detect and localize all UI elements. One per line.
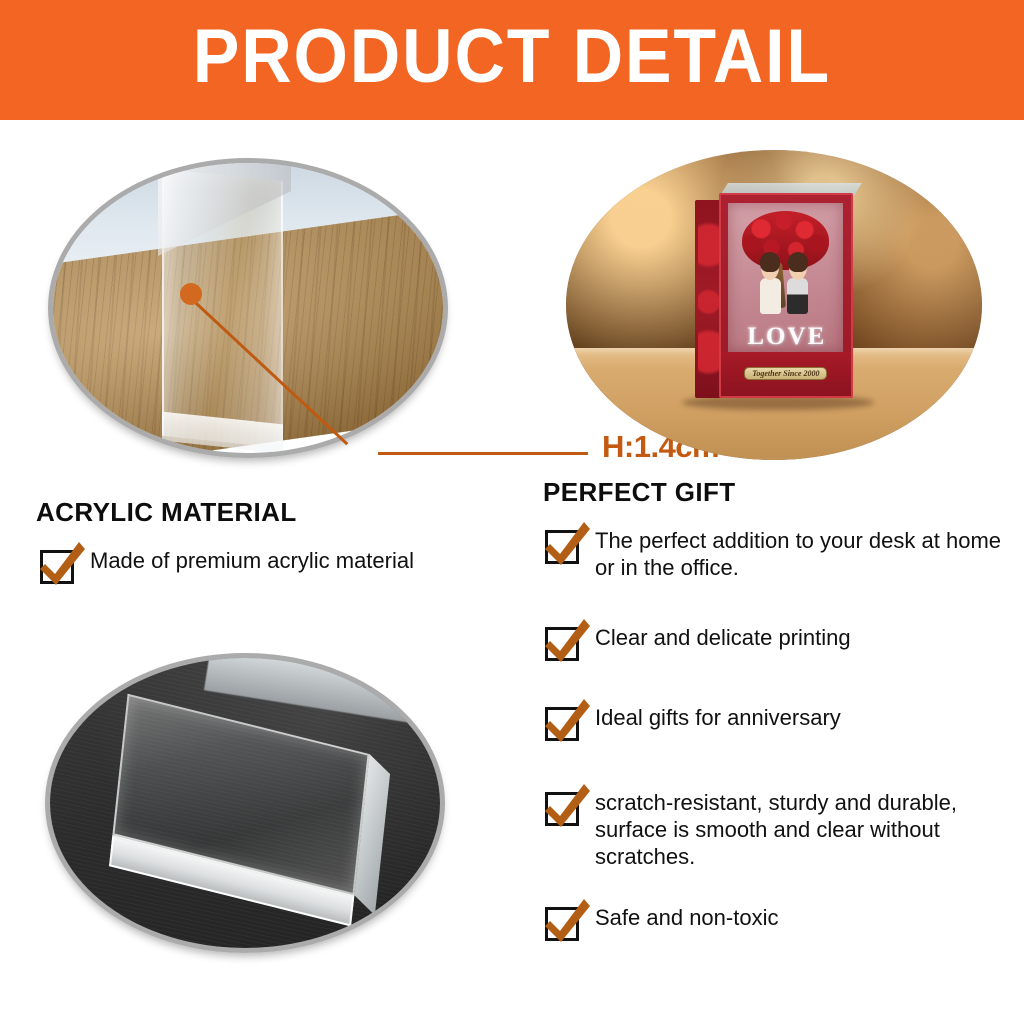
section-heading-perfect-gift: PERFECT GIFT [543, 477, 736, 508]
figurine-man-hair [788, 252, 808, 272]
feature-item: Clear and delicate printing [545, 625, 851, 661]
checkbox-checked-icon [545, 530, 579, 564]
feature-text: Clear and delicate printing [595, 625, 851, 652]
figurine-woman-body [760, 278, 781, 314]
love-letter-v: V [788, 325, 806, 349]
callout-leader-horizontal [378, 452, 588, 455]
feature-item: Safe and non-toxic [545, 905, 778, 941]
checkbox-checked-icon [40, 550, 74, 584]
page-title: PRODUCT DETAIL [193, 19, 831, 101]
figurine-woman [758, 254, 782, 313]
product-plaque: Together Since 2000 [744, 367, 827, 380]
feature-item: The perfect addition to your desk at hom… [545, 528, 1015, 582]
checkbox-checked-icon [545, 792, 579, 826]
wood-table-scene [53, 163, 443, 453]
acrylic-slab-photo [45, 653, 445, 953]
feature-text: Made of premium acrylic material [90, 548, 414, 575]
box-base-band: Together Since 2000 [721, 352, 851, 396]
feature-item: Ideal gifts for anniversary [545, 705, 841, 741]
box-side-face [695, 200, 722, 398]
box-display-window: L O V E [728, 203, 843, 351]
love-letter-l: L [747, 325, 764, 349]
figurine-man [786, 254, 810, 313]
feature-item: scratch-resistant, sturdy and durable, s… [545, 790, 1015, 870]
page-header-banner: PRODUCT DETAIL [0, 0, 1024, 120]
product-photo: L O V E Together Since 2000 [566, 150, 982, 460]
thickness-callout-dot [180, 283, 202, 305]
love-letter-o: O [766, 325, 785, 349]
feature-item: Made of premium acrylic material [40, 548, 414, 584]
feature-text: scratch-resistant, sturdy and durable, s… [595, 790, 1015, 870]
feature-text: Ideal gifts for anniversary [595, 705, 841, 732]
love-letter-e: E [808, 325, 825, 349]
figurine-woman-hair [760, 252, 780, 272]
feature-text: The perfect addition to your desk at hom… [595, 528, 1015, 582]
product-shadow-box: L O V E Together Since 2000 [695, 193, 853, 398]
checkbox-checked-icon [545, 907, 579, 941]
checkbox-checked-icon [545, 707, 579, 741]
checkbox-checked-icon [545, 627, 579, 661]
acrylic-edge-photo [48, 158, 448, 458]
box-front-face: L O V E Together Since 2000 [719, 193, 853, 398]
section-heading-acrylic-material: ACRYLIC MATERIAL [36, 497, 297, 528]
figurine-man-body [787, 278, 808, 314]
love-letters: L O V E [738, 313, 834, 349]
feature-text: Safe and non-toxic [595, 905, 778, 932]
